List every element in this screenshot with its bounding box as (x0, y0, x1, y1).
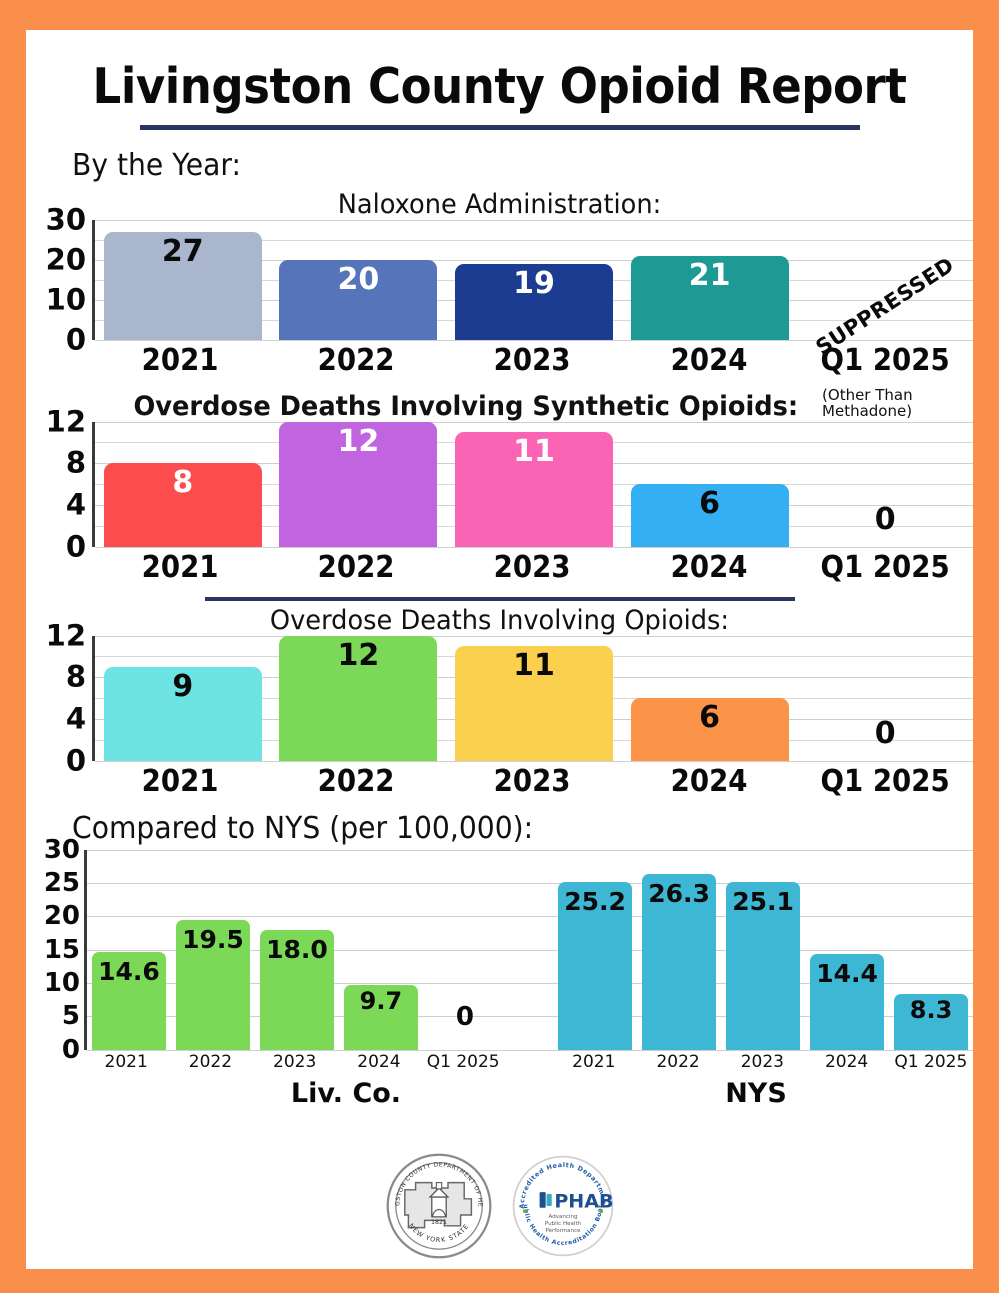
bar[interactable]: 19 (455, 264, 613, 340)
x-tick-label: 2024 (804, 1052, 888, 1072)
x-tick-label: 2023 (253, 1052, 337, 1072)
x-tick-label: 2024 (628, 550, 790, 585)
bar-value-label: 12 (338, 426, 380, 458)
y-tick-label: 8 (66, 663, 86, 692)
bar-value-label: 20 (338, 264, 380, 296)
x-tick-label: 2022 (275, 764, 437, 799)
bar-slot-2022[interactable]: 20 (271, 220, 447, 340)
bar[interactable]: 21 (631, 256, 789, 340)
bar[interactable]: 14.4 (810, 954, 884, 1050)
x-tick-label: 2022 (275, 343, 437, 378)
bar[interactable]: 11 (455, 432, 613, 547)
y-tick-label: 15 (44, 937, 80, 963)
bar-slot-nys-2024[interactable]: 14.4 (805, 850, 889, 1050)
x-tick-label: Q1 2025 (421, 1052, 505, 1072)
chart-1-x-axis: 2021202220232024Q1 2025 (26, 343, 973, 378)
bar-value-label: 21 (689, 260, 731, 292)
x-tick-label: Q1 2025 (804, 343, 966, 378)
svg-text:1821: 1821 (430, 1219, 446, 1226)
bar-value-label: 11 (513, 436, 555, 468)
section-divider (205, 597, 795, 601)
logo-row: 1821 LIVINGSTON COUNTY DEPARTMENT OF HEA… (385, 1152, 615, 1265)
x-tick-label: 2023 (451, 343, 613, 378)
bar[interactable]: 12 (279, 422, 437, 547)
x-tick-label: 2023 (451, 550, 613, 585)
chart-2-subtitle: (Other Than Methadone) (822, 388, 913, 422)
bar[interactable]: 25.1 (726, 882, 800, 1049)
title-divider (140, 125, 860, 130)
bar-value-label: 6 (699, 702, 720, 734)
y-tick-label: 4 (66, 490, 86, 519)
chart-naloxone-administration: Naloxone Administration: 0102030 2720192… (26, 189, 973, 378)
x-tick-label: 2024 (628, 343, 790, 378)
bar-value-label: 0 (875, 502, 896, 537)
chart-2-title: Overdose Deaths Involving Synthetic Opio… (134, 391, 799, 422)
bar-slot-nys-2023[interactable]: 25.1 (721, 850, 805, 1050)
bar-slot-liv-co--2023[interactable]: 18.0 (255, 850, 339, 1050)
x-tick-label: Q1 2025 (804, 764, 966, 799)
page-title: Livingston County Opioid Report (64, 58, 935, 115)
bar-value-label: 27 (162, 236, 204, 268)
bar-value-label: 14.4 (816, 959, 878, 988)
x-tick-label: 2021 (552, 1052, 636, 1072)
x-tick-label: 2021 (99, 343, 261, 378)
poster-sheet: Livingston County Opioid Report By the Y… (26, 30, 973, 1269)
bar-value-label: 19.5 (182, 925, 244, 954)
chart-4-x-axis: 2021202220232024Q1 20252021202220232024Q… (26, 1052, 973, 1072)
chart-4-group-labels: Liv. Co. NYS (26, 1074, 973, 1116)
y-tick-label: 25 (44, 870, 80, 896)
bar-value-label: 25.1 (732, 887, 794, 916)
svg-text:Performance: Performance (545, 1228, 581, 1234)
group-label-liv-co: Liv. Co. (291, 1078, 401, 1109)
bar[interactable]: 18.0 (260, 930, 334, 1050)
y-tick-label: 5 (62, 1003, 80, 1029)
bar-slot-nys-q1-2025[interactable]: 8.3 (889, 850, 973, 1050)
bar-slot-nys-2021[interactable]: 25.2 (553, 850, 637, 1050)
y-tick-label: 0 (66, 326, 86, 355)
chart-3-plot: 9121160 (92, 636, 973, 761)
x-tick-label: 2024 (337, 1052, 421, 1072)
bar-value-label: 6 (699, 488, 720, 520)
y-tick-label: 10 (46, 285, 86, 314)
livingston-county-department-of-health-seal: 1821 LIVINGSTON COUNTY DEPARTMENT OF HEA… (385, 1152, 493, 1265)
y-tick-label: 30 (44, 837, 80, 863)
svg-text:Public Health: Public Health (544, 1221, 581, 1227)
group-gap (507, 850, 553, 1050)
chart-3-y-axis: 04812 (26, 636, 92, 761)
chart-4-y-axis: 051015202530 (26, 850, 84, 1050)
bar-value-label: 9 (172, 671, 193, 703)
chart-2-y-axis: 04812 (26, 422, 92, 547)
bar-value-label: 0 (875, 716, 896, 751)
chart-3-title: Overdose Deaths Involving Opioids: (50, 605, 950, 636)
bar-slot-q1-2025[interactable]: SUPPRESSED (797, 220, 973, 340)
group-gap-label (505, 1052, 551, 1072)
x-tick-label: Q1 2025 (889, 1052, 973, 1072)
svg-text:Advancing: Advancing (548, 1214, 577, 1220)
x-tick-label: 2022 (275, 550, 437, 585)
x-tick-label: 2022 (168, 1052, 252, 1072)
bar-value-label: 12 (338, 640, 380, 672)
bar-slot-nys-2022[interactable]: 26.3 (637, 850, 721, 1050)
bar-slot-2022[interactable]: 12 (271, 422, 447, 547)
chart-compared-to-nys: 051015202530 14.619.518.09.7025.226.325.… (26, 850, 973, 1116)
bar[interactable]: 25.2 (558, 882, 632, 1050)
chart-2-subtitle-line2: Methadone) (822, 404, 913, 420)
group-label-nys: NYS (725, 1078, 787, 1109)
bar-slot-liv-co--2021[interactable]: 14.6 (87, 850, 171, 1050)
y-tick-label: 12 (46, 407, 86, 436)
bar-value-label: 11 (513, 650, 555, 682)
chart-4-plot: 14.619.518.09.7025.226.325.114.48.3 (84, 850, 973, 1050)
x-tick-label: 2022 (636, 1052, 720, 1072)
bar[interactable]: 9 (104, 667, 262, 761)
bar[interactable]: 14.6 (92, 952, 166, 1049)
chart-1-y-axis: 0102030 (26, 220, 92, 340)
x-tick-label: 2021 (99, 764, 261, 799)
y-tick-label: 0 (66, 746, 86, 775)
x-tick-label: Q1 2025 (804, 550, 966, 585)
chart-overdose-deaths-synthetic-opioids: Overdose Deaths Involving Synthetic Opio… (26, 388, 973, 585)
y-tick-label: 30 (46, 206, 86, 235)
bar[interactable]: 12 (279, 636, 437, 761)
bar-slot-2021[interactable]: 8 (95, 422, 271, 547)
chart-2-x-axis: 2021202220232024Q1 2025 (26, 550, 973, 585)
bar[interactable]: 27 (104, 232, 262, 340)
bar[interactable]: 6 (631, 484, 789, 547)
bar-value-label: 26.3 (648, 879, 710, 908)
x-tick-label: 2024 (628, 764, 790, 799)
chart-1-plot: 27201921SUPPRESSED (92, 220, 973, 340)
bar-value-label: 9.7 (360, 987, 403, 1015)
section-label-compared-to-nys: Compared to NYS (per 100,000): (72, 811, 919, 846)
bar-value-label: 8.3 (910, 996, 953, 1024)
bar-value-label: 25.2 (564, 887, 626, 916)
bar[interactable]: 9.7 (344, 985, 418, 1050)
bar-slot-q1-2025[interactable]: 0 (797, 636, 973, 761)
bar-value-label: 19 (513, 268, 555, 300)
chart-1-title: Naloxone Administration: (50, 189, 950, 220)
y-tick-label: 12 (46, 621, 86, 650)
y-tick-label: 8 (66, 449, 86, 478)
bar[interactable]: 26.3 (642, 874, 716, 1049)
bar-slot-liv-co--2024[interactable]: 9.7 (339, 850, 423, 1050)
phab-accreditation-seal: Accredited Health Department Public Heal… (511, 1154, 615, 1263)
bar[interactable]: 11 (455, 646, 613, 761)
bar-value-label: 0 (456, 1002, 474, 1032)
y-tick-label: 4 (66, 704, 86, 733)
bar[interactable]: 8 (104, 463, 262, 546)
bar[interactable]: 8.3 (894, 994, 968, 1049)
bar-slot-liv-co--2022[interactable]: 19.5 (171, 850, 255, 1050)
y-tick-label: 0 (62, 1037, 80, 1063)
bar-slot-liv-co--q1-2025[interactable]: 0 (423, 850, 507, 1050)
bar[interactable]: 20 (279, 260, 437, 340)
bar-slot-2023[interactable]: 11 (446, 422, 622, 547)
y-tick-label: 20 (44, 903, 80, 929)
svg-text:PHAB: PHAB (554, 1191, 613, 1213)
x-tick-label: 2023 (451, 764, 613, 799)
section-label-by-the-year: By the Year: (72, 148, 919, 183)
bar-slot-2023[interactable]: 11 (446, 636, 622, 761)
bar-slot-2022[interactable]: 12 (271, 636, 447, 761)
y-tick-label: 20 (46, 245, 86, 274)
y-tick-label: 10 (44, 970, 80, 996)
x-tick-label: 2023 (720, 1052, 804, 1072)
bar-value-label: 14.6 (98, 957, 160, 986)
bar-value-label: 18.0 (266, 935, 328, 964)
bar-slot-2021[interactable]: 9 (95, 636, 271, 761)
chart-2-plot: 8121160 (92, 422, 973, 547)
bar-value-label: 8 (172, 467, 193, 499)
x-tick-label: 2021 (84, 1052, 168, 1072)
poster-border: Livingston County Opioid Report By the Y… (0, 0, 999, 1293)
bar-slot-2021[interactable]: 27 (95, 220, 271, 340)
bar-slot-q1-2025[interactable]: 0 (797, 422, 973, 547)
y-tick-label: 0 (66, 532, 86, 561)
bar-slot-2024[interactable]: 6 (622, 422, 798, 547)
chart-3-x-axis: 2021202220232024Q1 2025 (26, 764, 973, 799)
x-tick-label: 2021 (99, 550, 261, 585)
bar-slot-2024[interactable]: 21 (622, 220, 798, 340)
bar-slot-2023[interactable]: 19 (446, 220, 622, 340)
chart-overdose-deaths-opioids: Overdose Deaths Involving Opioids: 04812… (26, 605, 973, 799)
bar[interactable]: 6 (631, 698, 789, 761)
bar-slot-2024[interactable]: 6 (622, 636, 798, 761)
bar[interactable]: 19.5 (176, 920, 250, 1050)
